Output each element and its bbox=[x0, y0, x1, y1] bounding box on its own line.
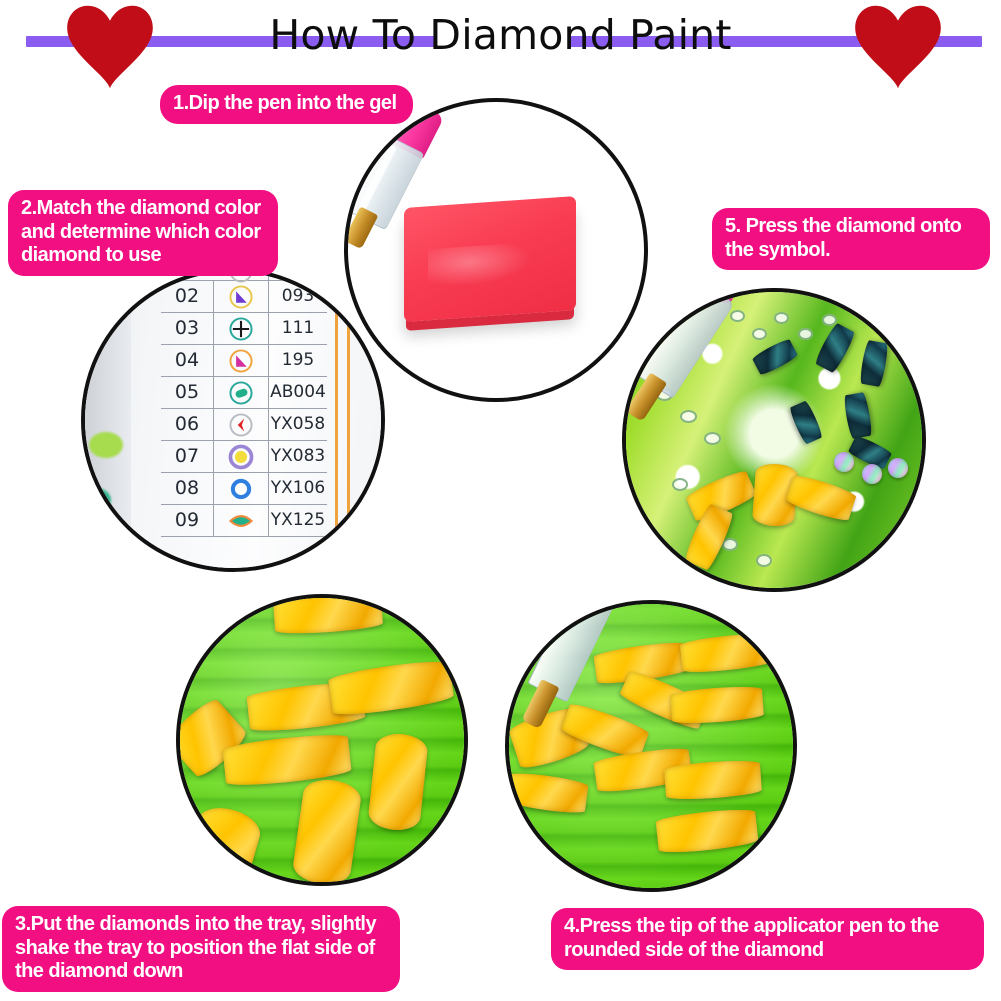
chart-row-code: YX106 bbox=[269, 473, 327, 504]
orange-margin-line bbox=[335, 272, 338, 568]
table-row: 02093 bbox=[161, 281, 327, 313]
capsule-symbol-icon bbox=[214, 377, 269, 408]
chart-row-number: 04 bbox=[161, 345, 214, 376]
leaf-symbol-icon bbox=[214, 505, 269, 536]
chart-row-number: 09 bbox=[161, 505, 214, 536]
chart-row-number: 05 bbox=[161, 377, 214, 408]
color-chart-photo: 02802093031110419505AB00406YX05807YX0830… bbox=[81, 268, 385, 572]
step-3-text: 3.Put the diamonds into the tray, slight… bbox=[15, 913, 387, 984]
chart-row-code: YX125 bbox=[269, 505, 327, 536]
triangle-symbol-icon bbox=[214, 345, 269, 376]
table-row: 07YX083 bbox=[161, 441, 327, 473]
table-row: 09YX125 bbox=[161, 505, 327, 537]
table-row: 08YX106 bbox=[161, 473, 327, 505]
gem bbox=[888, 458, 908, 478]
filled-circle-symbol-icon bbox=[214, 441, 269, 472]
table-row: 04195 bbox=[161, 345, 327, 377]
orange-margin-line bbox=[347, 272, 350, 568]
step-2-text: 2.Match the diamond color and determine … bbox=[21, 197, 265, 268]
gel-pad bbox=[404, 196, 576, 322]
color-code-table: 02802093031110419505AB00406YX05807YX0830… bbox=[161, 268, 327, 537]
gem bbox=[862, 464, 882, 484]
page-title: How To Diamond Paint bbox=[0, 12, 1001, 58]
chart-row-code: AB004 bbox=[269, 377, 327, 408]
pen-picking-diamond-photo bbox=[505, 600, 797, 892]
pen-tip bbox=[521, 679, 559, 729]
chart-row-number: 08 bbox=[161, 473, 214, 504]
ring-symbol-icon bbox=[214, 473, 269, 504]
chart-row-code: 093 bbox=[269, 281, 327, 312]
table-row: 03111 bbox=[161, 313, 327, 345]
table-row: 05AB004 bbox=[161, 377, 327, 409]
step-3-label: 3.Put the diamonds into the tray, slight… bbox=[2, 906, 400, 992]
chart-row-number: 03 bbox=[161, 313, 214, 344]
table-row: 06YX058 bbox=[161, 409, 327, 441]
infographic-page: How To Diamond Paint 0280209303111041950… bbox=[0, 0, 1001, 1001]
green-smudge bbox=[81, 488, 111, 512]
paper-shadow-edge bbox=[85, 272, 131, 568]
green-smudge bbox=[89, 432, 123, 458]
diamonds-in-tray-photo bbox=[176, 594, 468, 886]
step-4-label: 4.Press the tip of the applicator pen to… bbox=[551, 908, 984, 970]
chart-row-code: YX058 bbox=[269, 409, 327, 440]
chart-row-code: 111 bbox=[269, 313, 327, 344]
chart-row-number: 06 bbox=[161, 409, 214, 440]
chart-row-number: 02 bbox=[161, 281, 214, 312]
gem bbox=[367, 732, 429, 833]
step-4-text: 4.Press the tip of the applicator pen to… bbox=[564, 915, 971, 962]
plus-symbol-icon bbox=[214, 313, 269, 344]
arrow-left-symbol-icon bbox=[214, 409, 269, 440]
chart-row-code: YX083 bbox=[269, 441, 327, 472]
pen-dipping-into-gel-photo bbox=[344, 98, 648, 402]
step-5-label: 5. Press the diamond onto the symbol. bbox=[712, 208, 990, 270]
step-1-text: 1.Dip the pen into the gel bbox=[173, 92, 400, 116]
step-2-label: 2.Match the diamond color and determine … bbox=[8, 190, 278, 276]
chart-row-number: 07 bbox=[161, 441, 214, 472]
step-1-label: 1.Dip the pen into the gel bbox=[160, 85, 413, 124]
chart-row-code: 195 bbox=[269, 345, 327, 376]
pen-tip bbox=[344, 206, 378, 249]
triangle-symbol-icon bbox=[214, 281, 269, 312]
placing-diamond-on-canvas-photo bbox=[622, 288, 926, 592]
gem bbox=[834, 452, 854, 472]
step-5-text: 5. Press the diamond onto the symbol. bbox=[725, 215, 977, 262]
